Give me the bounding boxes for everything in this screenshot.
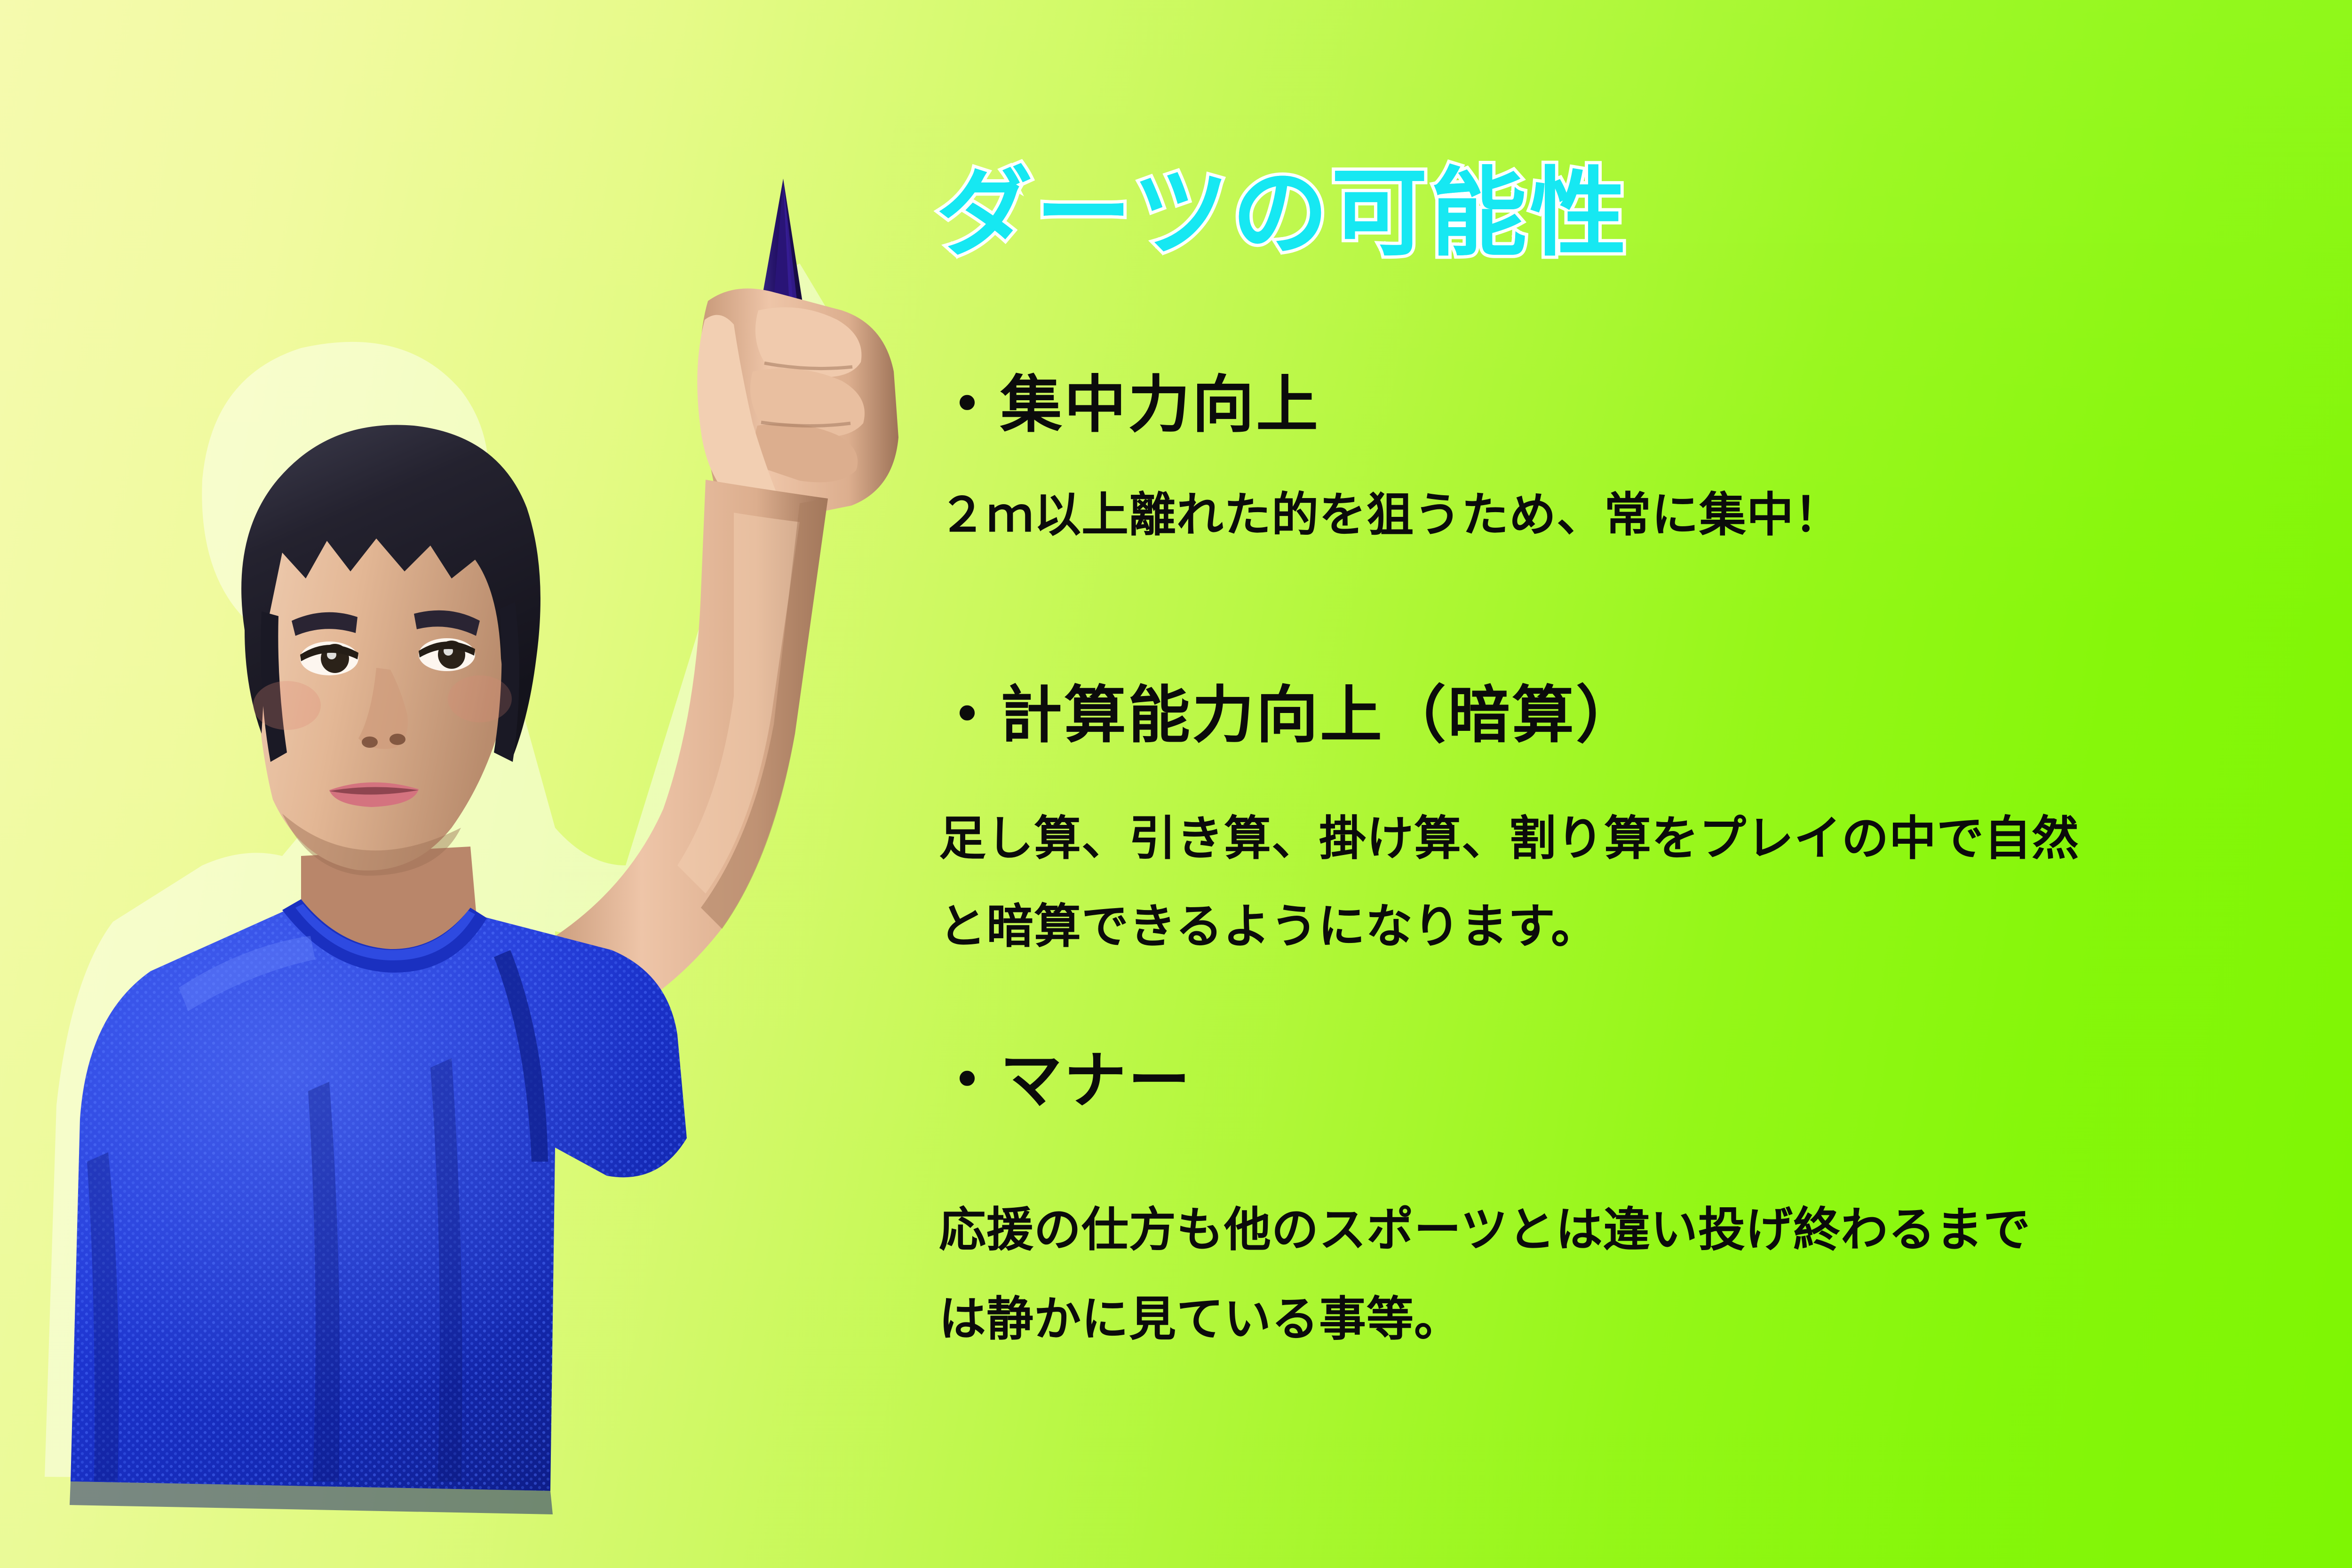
section-body-manners-line-2: は静かに見ている事等。 bbox=[939, 1296, 1462, 1343]
slide-text-column: ダーツの可能性 ダーツの可能性 ・集中力向上 ２ｍ以上離れた的を狙うため、常に集… bbox=[936, 0, 2338, 1568]
section-body-concentration-line-1: ２ｍ以上離れた的を狙うため、常に集中！ bbox=[939, 491, 1842, 539]
presentation-slide: ダーツの可能性 ダーツの可能性 ・集中力向上 ２ｍ以上離れた的を狙うため、常に集… bbox=[0, 0, 2352, 1568]
section-heading-manners: ・マナー bbox=[936, 1050, 1192, 1112]
section-body-calculation-line-1: 足し算、引き算、掛け算、割り算をプレイの中で自然 bbox=[939, 815, 2079, 862]
section-heading-calculation: ・計算能力向上（暗算） bbox=[936, 684, 1640, 746]
section-body-calculation-line-2: と暗算できるようになります。 bbox=[939, 903, 1598, 950]
boy-with-dart-photo bbox=[0, 0, 941, 1568]
page-title: ダーツの可能性 bbox=[936, 166, 1629, 262]
section-heading-concentration: ・集中力向上 bbox=[936, 374, 1320, 436]
shirt bbox=[70, 899, 687, 1514]
section-body-manners-line-1: 応援の仕方も他のスポーツとは違い投げ終わるまで bbox=[939, 1206, 2031, 1253]
